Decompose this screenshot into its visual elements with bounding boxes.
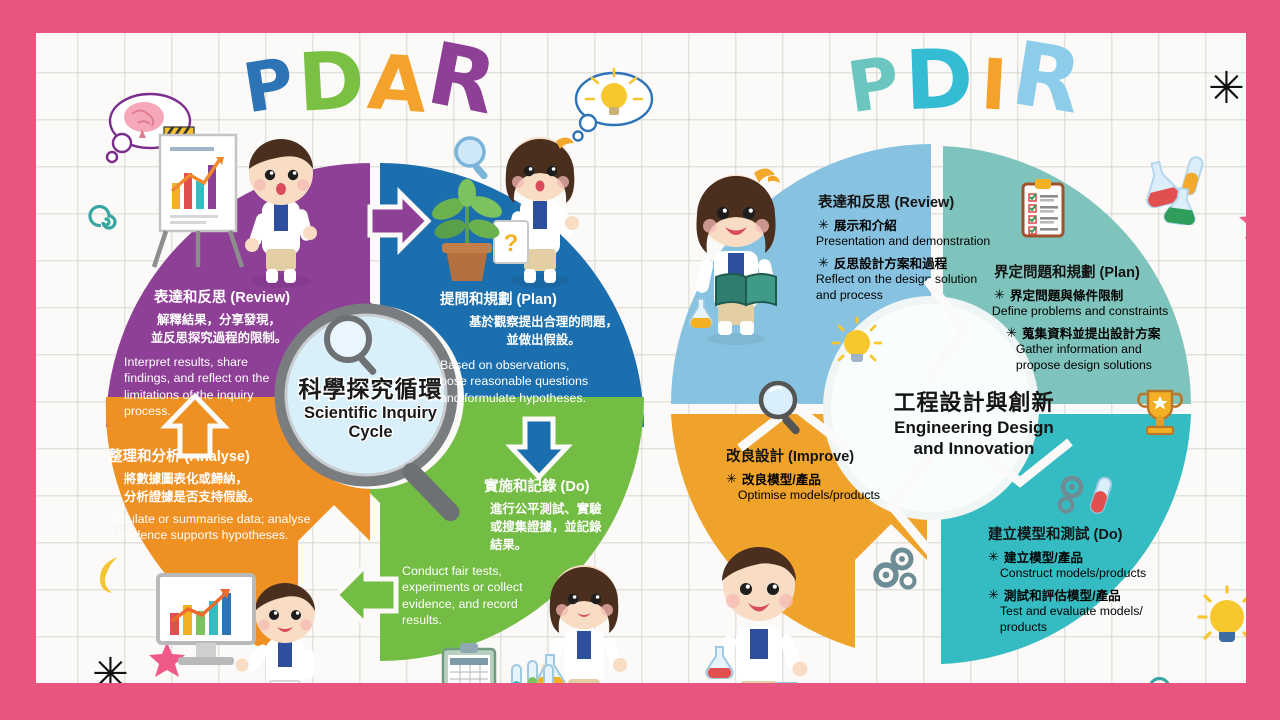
bullet-asterisk-icon: ✳ xyxy=(988,588,999,603)
right-do-b2-zh: 測試和評估模型/產品 xyxy=(1004,588,1143,604)
pdir-letter-i: I xyxy=(980,56,1009,117)
lightbulb-icon xyxy=(832,317,882,373)
left-analyse-en: Tabulate or summarise data; analyse if e… xyxy=(108,511,368,544)
bullet-asterisk-icon: ✳ xyxy=(818,218,829,233)
right-hub-zh: 工程設計與創新 xyxy=(874,385,1074,417)
right-cycle-hub: 工程設計與創新 Engineering Design and Innovatio… xyxy=(874,385,1074,458)
pdir-letter-d: D xyxy=(904,45,974,117)
right-hub-en-1: Engineering Design xyxy=(874,419,1074,438)
right-do-title: 建立模型和測試 (Do) xyxy=(988,523,1188,544)
right-do-text: 建立模型和測試 (Do) ✳ 建立模型/產品 Construct models/… xyxy=(988,523,1188,636)
right-review-b1-en: Presentation and demonstration xyxy=(816,234,990,250)
left-review-zh: 解釋結果，分享發現， 並反思探究過程的限制。 xyxy=(124,312,314,348)
right-hub-en-2: and Innovation xyxy=(874,440,1074,459)
right-review-b1-zh: 展示和介紹 xyxy=(834,218,990,234)
monitor-chart-icon xyxy=(154,571,264,681)
right-plan-title: 界定問題和規劃 (Plan) xyxy=(994,261,1206,282)
pdir-letter-p: P xyxy=(844,53,903,119)
right-do-b1-zh: 建立模型/產品 xyxy=(1004,550,1146,566)
trophy-icon xyxy=(1134,385,1186,441)
right-plan-b2-en: Gather information and propose design so… xyxy=(1016,342,1161,373)
flask-icon xyxy=(690,299,713,328)
yellow-banana-icon xyxy=(94,553,128,597)
teal-spiral-icon xyxy=(1148,673,1184,683)
teal-spiral-icon xyxy=(88,201,124,237)
right-review-title: 表達和反思 (Review) xyxy=(818,191,1018,212)
book-icon xyxy=(716,274,776,305)
black-asterisk-icon: ✳ xyxy=(92,653,129,683)
pdir-letter-r: R xyxy=(1008,36,1087,120)
right-review-bullet-1: ✳ 展示和介紹 Presentation and demonstration xyxy=(818,218,1018,250)
arrow-plan-to-do xyxy=(501,415,581,485)
right-do-bullet-2: ✳ 測試和評估模型/產品 Test and evaluate models/ p… xyxy=(988,588,1188,636)
pdar-letter-a: A xyxy=(366,50,429,119)
plant-pot-icon xyxy=(424,173,510,285)
bullet-asterisk-icon: ✳ xyxy=(988,550,999,565)
left-plan-en: Based on observations, pose reasonable q… xyxy=(440,357,651,407)
left-hub-en-2: Cycle xyxy=(283,424,458,442)
right-improve-bullet-1: ✳ 改良模型/產品 Optimise models/products xyxy=(726,472,906,504)
right-do-b1-en: Construct models/products xyxy=(1000,566,1146,582)
black-asterisk-icon: ✳ xyxy=(1208,67,1245,111)
pdir-acronym: P D I R xyxy=(848,41,1081,116)
left-hub-en-1: Scientific Inquiry xyxy=(283,405,458,423)
infographic-card: P D A R xyxy=(36,33,1246,683)
bullet-asterisk-icon: ✳ xyxy=(818,256,829,271)
bullet-asterisk-icon: ✳ xyxy=(994,288,1005,303)
right-plan-b2-zh: 蒐集資料並提出設計方案 xyxy=(1022,326,1161,342)
left-plan-text: 提問和規劃 (Plan) 基於觀察提出合理的問題， 並做出假設。 Based o… xyxy=(436,288,651,406)
right-plan-text: 界定問題和規劃 (Plan) ✳ 界定問題與條件限制 Define proble… xyxy=(994,261,1206,374)
left-hub-zh: 科學探究循環 xyxy=(283,370,458,404)
arrow-review-to-plan-right xyxy=(921,278,981,388)
clipboard-checklist-icon xyxy=(1019,178,1067,238)
left-plan-zh: 基於觀察提出合理的問題， 並做出假設。 xyxy=(436,314,651,350)
bullet-asterisk-icon: ✳ xyxy=(726,472,737,487)
pdar-letter-r: R xyxy=(423,37,502,121)
gears-icon xyxy=(868,543,924,595)
test-tubes-icon xyxy=(504,651,566,683)
left-review-title: 表達和反思 (Review) xyxy=(130,286,314,307)
right-review-bullet-2: ✳ 反思設計方案和過程 Reflect on the design soluti… xyxy=(818,256,1018,304)
right-review-b2-zh: 反思設計方案和過程 xyxy=(834,256,977,272)
character-girl-reader xyxy=(676,155,796,345)
presentation-board-icon xyxy=(146,131,256,271)
magnifier-icon xyxy=(754,378,810,438)
right-review-text: 表達和反思 (Review) ✳ 展示和介紹 Presentation and … xyxy=(818,191,1018,304)
right-improve-b1-en: Optimise models/products xyxy=(738,488,880,504)
right-plan-bullet-2: ✳ 蒐集資料並提出設計方案 Gather information and pro… xyxy=(1006,326,1206,374)
right-plan-b1-en: Define problems and constraints xyxy=(992,304,1168,320)
bullet-asterisk-icon: ✳ xyxy=(1006,326,1017,341)
arrow-analyse-to-review xyxy=(158,388,232,464)
pdar-letter-d: D xyxy=(296,46,366,117)
pdar-letter-p: P xyxy=(240,55,298,120)
gears-test-tube-icon xyxy=(1054,471,1118,523)
data-table-clipboard-icon xyxy=(440,641,498,683)
left-plan-title: 提問和規劃 (Plan) xyxy=(440,288,651,309)
right-do-b2-en: Test and evaluate models/ products xyxy=(1000,604,1143,635)
pdar-acronym: P D A R xyxy=(244,43,495,116)
left-cycle-hub: 科學探究循環 Scientific Inquiry Cycle xyxy=(283,370,458,480)
right-improve-b1-zh: 改良模型/產品 xyxy=(742,472,880,488)
right-plan-bullet-1: ✳ 界定問題與條件限制 Define problems and constrai… xyxy=(994,288,1206,320)
right-do-bullet-1: ✳ 建立模型/產品 Construct models/products xyxy=(988,550,1188,582)
lightbulb-icon xyxy=(1196,585,1246,653)
flasks-icon xyxy=(1136,155,1214,225)
character-boy-builder xyxy=(696,523,822,683)
right-plan-b1-zh: 界定問題與條件限制 xyxy=(1010,288,1168,304)
pink-star-icon xyxy=(1236,201,1246,243)
